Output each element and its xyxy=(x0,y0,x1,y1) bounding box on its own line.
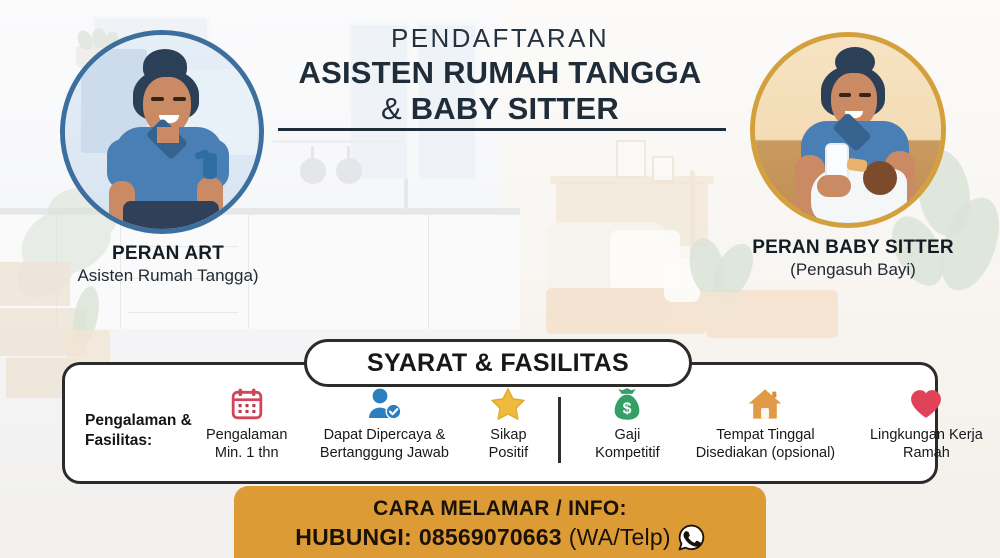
header-title-line2: & BABY SITTER xyxy=(282,91,718,127)
housekeeper-illustration xyxy=(60,30,264,234)
figure-neck xyxy=(157,127,179,143)
cta-headline: CARA MELAMAR / INFO: xyxy=(373,497,627,521)
money-bag-icon: $ xyxy=(584,384,670,424)
requirement-label: Dapat Dipercaya & Bertanggung Jawab xyxy=(305,427,463,462)
cta-contact-label: HUBUNGI: xyxy=(295,524,412,551)
requirement-item-attitude: Sikap Positif xyxy=(472,384,544,462)
figure-eye xyxy=(173,97,186,101)
section-title-text: SYARAT & FASILITAS xyxy=(367,349,629,378)
baby-head xyxy=(863,161,897,195)
figure-eye xyxy=(839,93,851,97)
cabinet-drawer xyxy=(128,312,238,313)
role-subtitle-art: Asisten Rumah Tangga) xyxy=(60,266,276,286)
figure-eye xyxy=(151,97,164,101)
section-divider xyxy=(558,397,561,463)
picture-frame xyxy=(616,140,646,178)
whatsapp-icon[interactable] xyxy=(678,524,705,551)
heart-icon xyxy=(860,384,992,424)
babysitter-illustration xyxy=(750,32,946,228)
role-title-babysitter: PERAN BABY SITTER xyxy=(750,237,956,259)
facility-item-housing: Tempat Tinggal Disediakan (opsional) xyxy=(679,384,851,462)
contact-cta-banner[interactable]: CARA MELAMAR / INFO: HUBUNGI: 0856907066… xyxy=(234,486,766,558)
facility-label: Gaji Kompetitif xyxy=(584,427,670,462)
pan-icon xyxy=(300,158,326,184)
requirement-label: Pengalaman Min. 1 thn xyxy=(206,427,287,462)
role-card-babysitter: PERAN BABY SITTER (Pengasuh Bayi) xyxy=(750,32,956,280)
facilities-card-label: Pengalaman & Fasilitas: xyxy=(85,395,197,451)
plant-pot xyxy=(700,292,740,326)
house-icon xyxy=(688,384,842,424)
cta-channel: (WA/Telp) xyxy=(569,524,671,551)
cabinet-seam xyxy=(428,214,429,329)
facility-item-environment: Lingkungan Kerja Ramah xyxy=(851,384,1000,462)
section-title-pill: SYARAT & FASILITAS xyxy=(304,339,692,387)
role-title-art: PERAN ART xyxy=(60,243,276,265)
poster-header: PENDAFTARAN ASISTEN RUMAH TANGGA & BABY … xyxy=(282,24,718,128)
poster-root: PENDAFTARAN ASISTEN RUMAH TANGGA & BABY … xyxy=(0,0,1000,558)
verified-person-icon xyxy=(305,384,463,424)
role-card-art: PERAN ART Asisten Rumah Tangga) xyxy=(60,30,276,286)
header-title-emphasis: BABY SITTER xyxy=(411,91,619,126)
requirement-label: Sikap Positif xyxy=(481,427,535,462)
bottle-nipple xyxy=(846,158,867,173)
header-title-line1: ASISTEN RUMAH TANGGA xyxy=(282,55,718,91)
svg-text:$: $ xyxy=(623,400,632,417)
star-icon xyxy=(481,384,535,424)
kitchen-rail xyxy=(272,140,404,143)
facility-item-salary: $ Gaji Kompetitif xyxy=(575,384,679,462)
picture-frame xyxy=(652,156,674,182)
header-ampersand: & xyxy=(381,91,411,126)
figure-pants xyxy=(123,201,219,234)
header-divider xyxy=(278,128,726,131)
facility-label: Tempat Tinggal Disediakan (opsional) xyxy=(688,427,842,462)
calendar-icon xyxy=(206,384,287,424)
header-kicker: PENDAFTARAN xyxy=(282,24,718,52)
requirement-item-experience: Pengalaman Min. 1 thn xyxy=(197,384,296,462)
pan-icon xyxy=(336,158,362,184)
figure-hand xyxy=(817,175,851,197)
requirement-item-trustworthy: Dapat Dipercaya & Bertanggung Jawab xyxy=(296,384,472,462)
cta-contact-row: HUBUNGI: 08569070663 (WA/Telp) xyxy=(295,524,704,551)
role-subtitle-babysitter: (Pengasuh Bayi) xyxy=(750,260,956,280)
facilities-group: $ Gaji Kompetitif Tempat Tinggal Disedia… xyxy=(575,384,1000,462)
requirements-group: Pengalaman Min. 1 thn Dapat Dipercaya & … xyxy=(197,384,544,462)
facility-label: Lingkungan Kerja Ramah xyxy=(860,427,992,462)
faucet-icon xyxy=(404,178,408,212)
cta-phone-number[interactable]: 08569070663 xyxy=(419,524,562,551)
figure-eye xyxy=(859,93,871,97)
